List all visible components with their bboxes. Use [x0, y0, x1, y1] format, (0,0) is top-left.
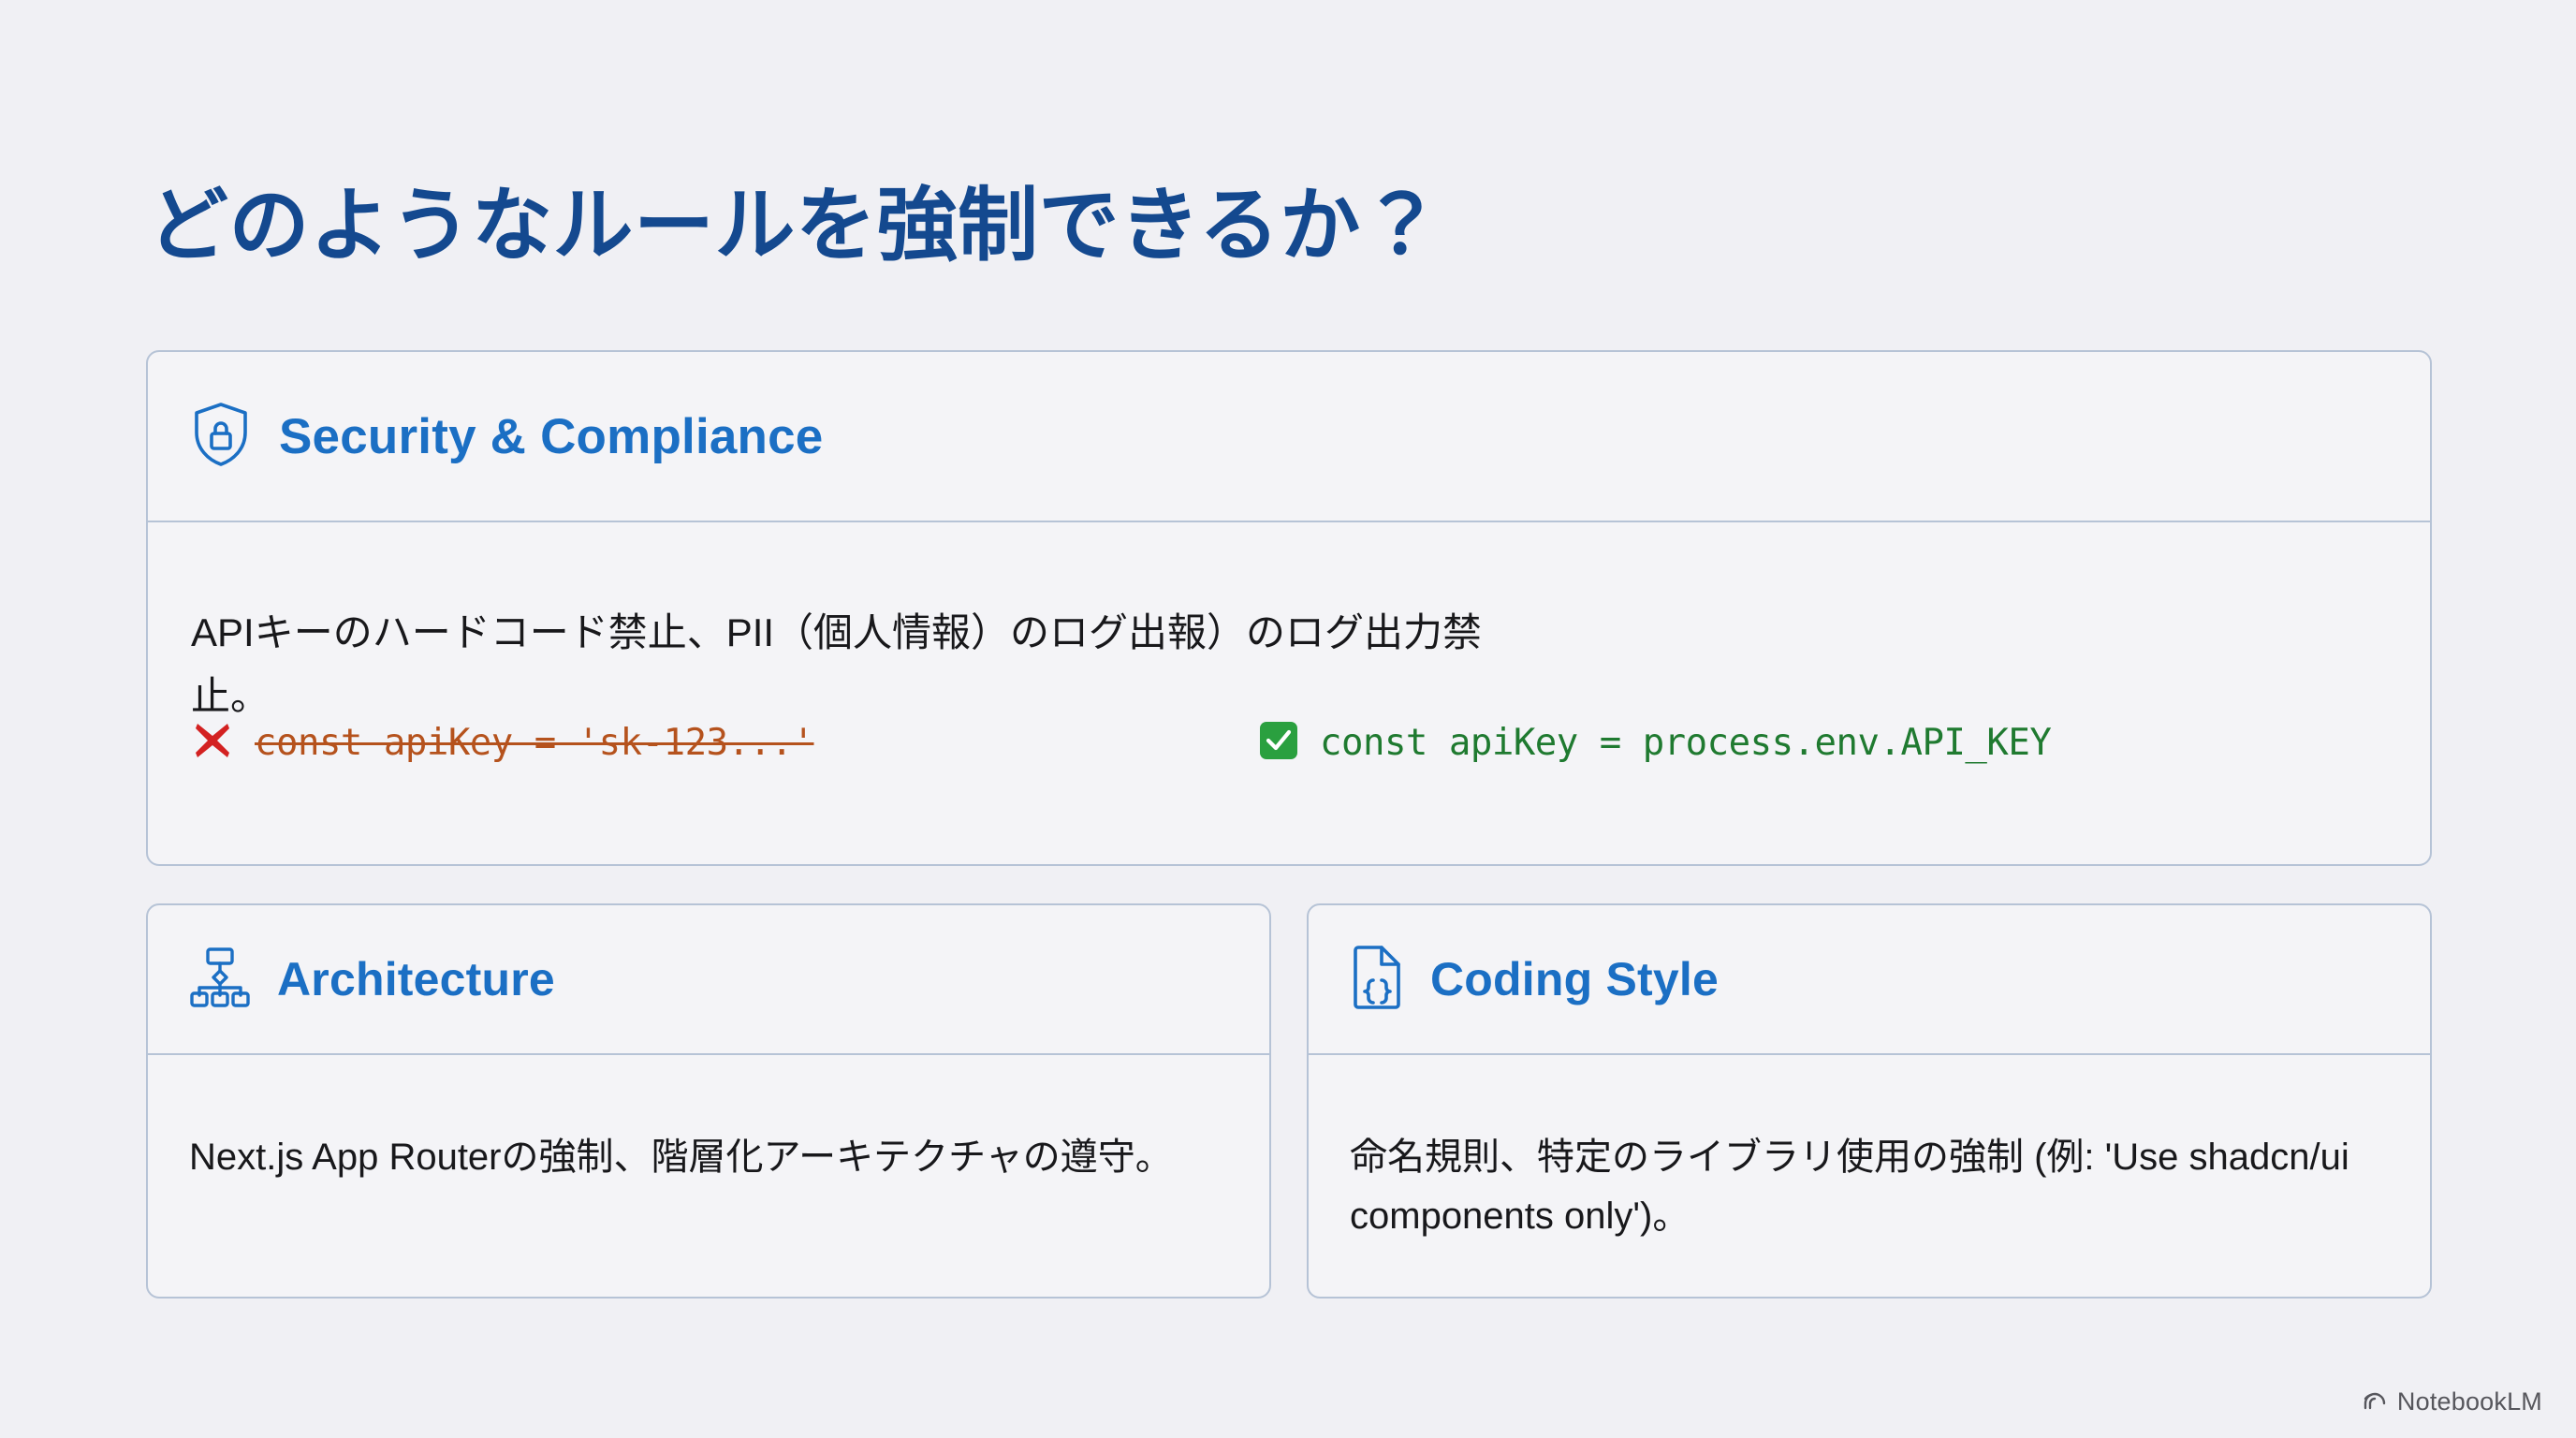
- code-bad-text: const apiKey = 'sk-123...': [255, 722, 813, 764]
- card-security: Security & Compliance APIキーのハードコード禁止、PII…: [146, 350, 2432, 866]
- card-coding-style-text: 命名規則、特定のライブラリ使用の強制 (例: 'Use shadcn/ui co…: [1350, 1128, 2389, 1246]
- cross-mark-icon: [191, 719, 234, 767]
- card-coding-style: Coding Style 命名規則、特定のライブラリ使用の強制 (例: 'Use…: [1307, 903, 2432, 1299]
- page-title: どのようなルールを強制できるか？: [148, 181, 1442, 271]
- brand-footer: NotebookLM: [2362, 1387, 2542, 1417]
- card-security-text: APIキーのハードコード禁止、PII（個人情報）のログ出報）のログ出力禁止。: [191, 601, 1529, 728]
- code-example-bad: const apiKey = 'sk-123...': [191, 719, 1258, 767]
- code-example-row: const apiKey = 'sk-123...' const apiKey …: [191, 719, 2387, 767]
- code-good-text: const apiKey = process.env.API_KEY: [1320, 722, 2051, 764]
- shield-lock-icon: [191, 402, 251, 472]
- card-architecture-title: Architecture: [277, 952, 555, 1006]
- card-architecture: Architecture Next.js App Routerの強制、階層化アー…: [146, 903, 1271, 1299]
- card-security-header: Security & Compliance: [148, 352, 2430, 522]
- slide-canvas: どのようなルールを強制できるか？ Security & Compliance A…: [0, 0, 2576, 1438]
- card-coding-style-title: Coding Style: [1430, 952, 1719, 1006]
- check-mark-icon: [1258, 720, 1299, 766]
- card-architecture-text: Next.js App Routerの強制、階層化アーキテクチャの遵守。: [189, 1128, 1228, 1187]
- card-coding-style-header: Coding Style: [1309, 905, 2430, 1055]
- notebooklm-icon: [2362, 1387, 2388, 1417]
- card-security-body: APIキーのハードコード禁止、PII（個人情報）のログ出報）のログ出力禁止。 c…: [148, 522, 2430, 728]
- hierarchy-icon: [189, 946, 251, 1013]
- card-architecture-header: Architecture: [148, 905, 1269, 1055]
- brand-name: NotebookLM: [2397, 1387, 2542, 1416]
- card-coding-style-body: 命名規則、特定のライブラリ使用の強制 (例: 'Use shadcn/ui co…: [1309, 1055, 2430, 1246]
- code-example-good: const apiKey = process.env.API_KEY: [1258, 720, 2051, 766]
- card-architecture-body: Next.js App Routerの強制、階層化アーキテクチャの遵守。: [148, 1055, 1269, 1187]
- file-braces-icon: [1350, 945, 1404, 1015]
- card-security-title: Security & Compliance: [279, 408, 823, 465]
